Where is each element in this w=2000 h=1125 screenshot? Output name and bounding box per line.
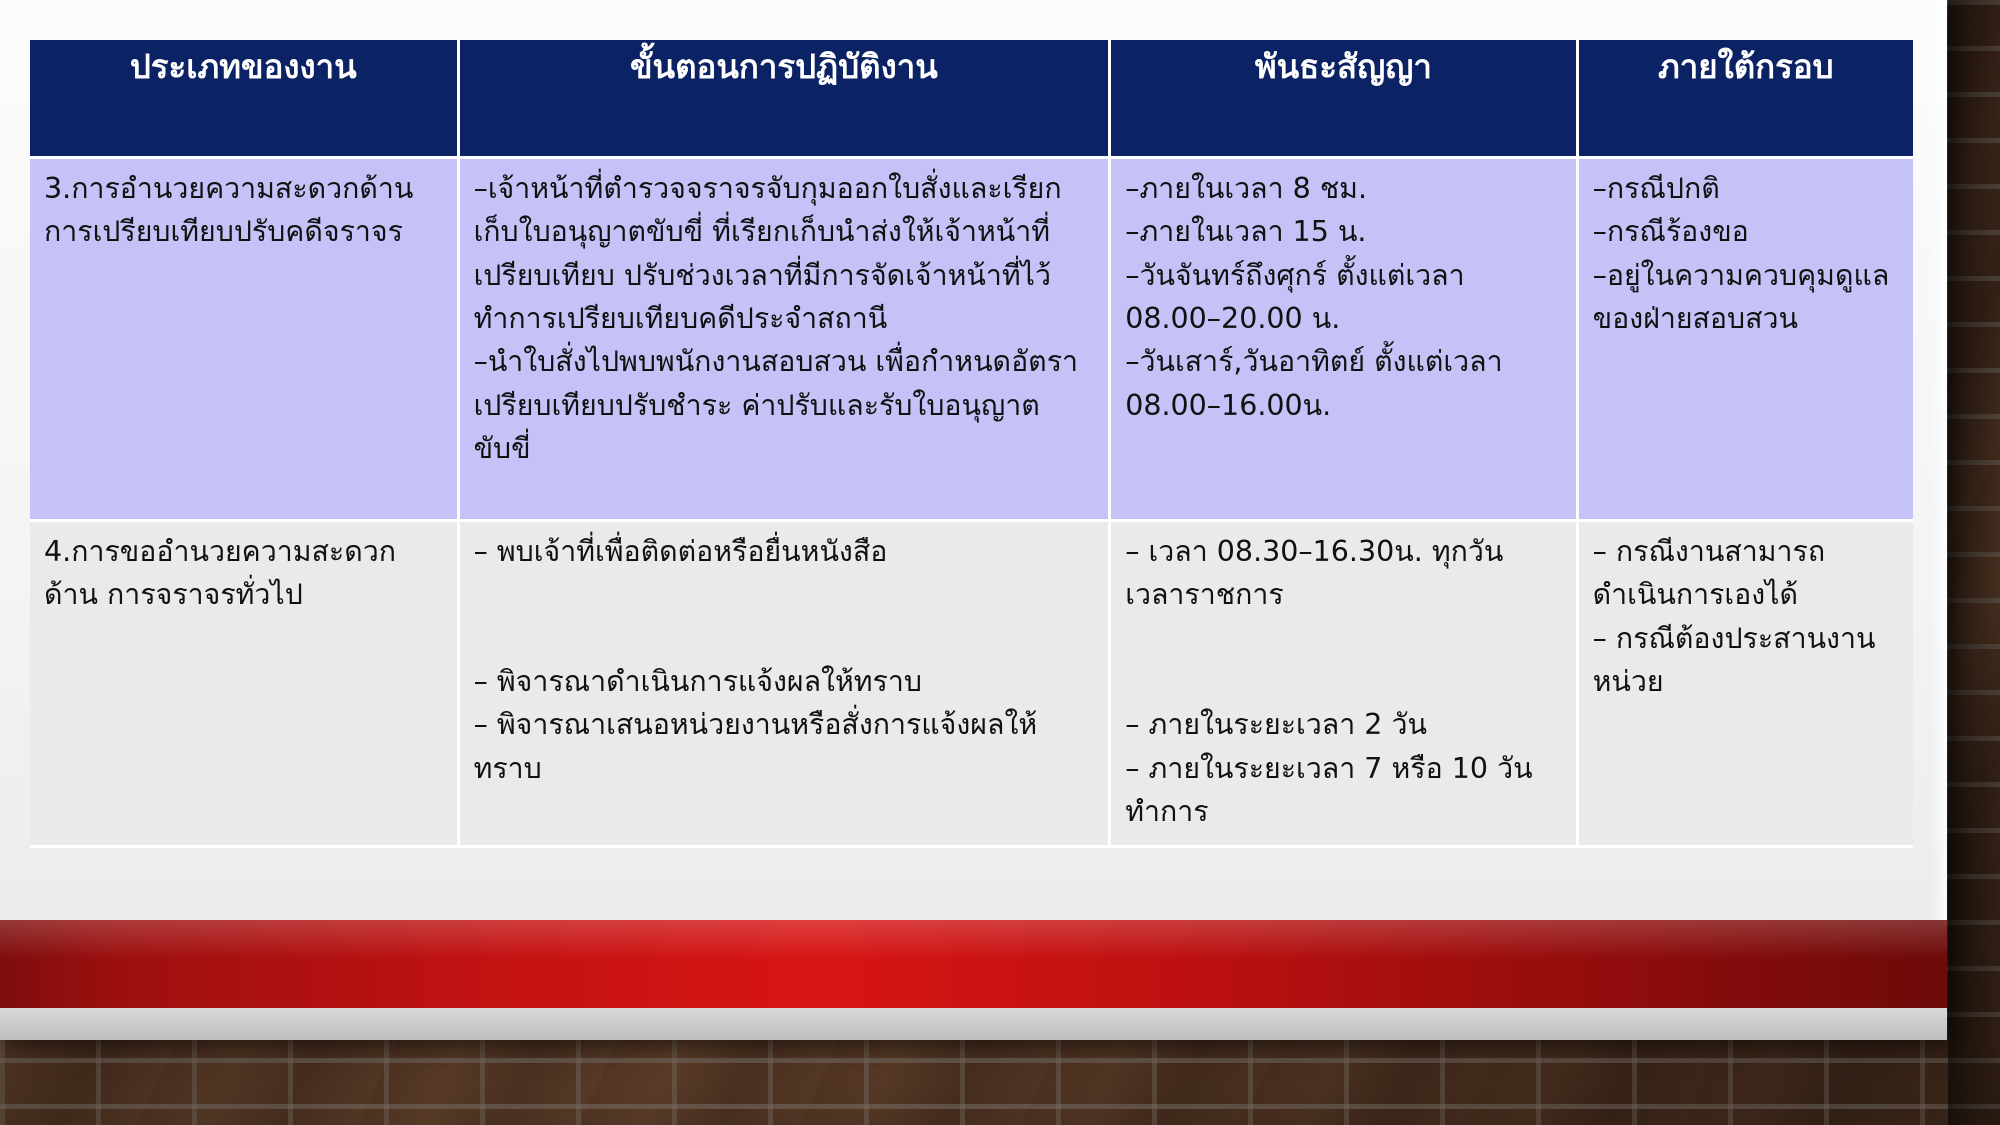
table-row: 4.การขออำนวยความสะดวกด้าน การจราจรทั่วไป…	[30, 522, 1913, 848]
service-table-container: ประเภทของงาน ขั้นตอนการปฏิบัติงาน พันธะส…	[30, 40, 1913, 848]
cell-procedure: – พบเจ้าที่เพื่อติดต่อหรือยื่นหนังสือ – …	[460, 522, 1112, 848]
right-dark-gutter	[1948, 0, 2000, 1125]
bottom-gray-strip	[0, 1008, 1947, 1040]
table-header: ประเภทของงาน ขั้นตอนการปฏิบัติงาน พันธะส…	[30, 40, 1913, 159]
column-header-commitment: พันธะสัญญา	[1111, 40, 1578, 159]
table-body: 3.การอำนวยความสะดวกด้านการเปรียบเทียบปรั…	[30, 159, 1913, 848]
cell-commitment: – เวลา 08.30–16.30น. ทุกวันเวลาราชการ – …	[1111, 522, 1578, 848]
accent-band-sheen	[0, 920, 1947, 959]
cell-text-commitment: – เวลา 08.30–16.30น. ทุกวันเวลาราชการ – …	[1125, 530, 1561, 833]
cell-framework: – กรณีงานสามารถดำเนินการเองได้ – กรณีต้อ…	[1579, 522, 1913, 848]
column-header-work-type: ประเภทของงาน	[30, 40, 460, 159]
cell-work-type: 4.การขออำนวยความสะดวกด้าน การจราจรทั่วไป	[30, 522, 460, 848]
cell-text-work-type: 3.การอำนวยความสะดวกด้านการเปรียบเทียบปรั…	[44, 167, 443, 254]
service-table: ประเภทของงาน ขั้นตอนการปฏิบัติงาน พันธะส…	[30, 40, 1913, 848]
cell-text-framework: –กรณีปกติ –กรณีร้องขอ –อยู่ในความควบคุมด…	[1593, 167, 1899, 340]
table-header-row: ประเภทของงาน ขั้นตอนการปฏิบัติงาน พันธะส…	[30, 40, 1913, 159]
cell-text-commitment: –ภายในเวลา 8 ชม. –ภายในเวลา 15 น. –วันจั…	[1125, 167, 1561, 427]
table-row: 3.การอำนวยความสะดวกด้านการเปรียบเทียบปรั…	[30, 159, 1913, 522]
cell-procedure: –เจ้าหน้าที่ตำรวจจราจรจับกุมออกใบสั่งและ…	[460, 159, 1112, 522]
cell-framework: –กรณีปกติ –กรณีร้องขอ –อยู่ในความควบคุมด…	[1579, 159, 1913, 522]
column-header-procedure: ขั้นตอนการปฏิบัติงาน	[460, 40, 1112, 159]
cell-text-work-type: 4.การขออำนวยความสะดวกด้าน การจราจรทั่วไป	[44, 530, 443, 617]
cell-text-procedure: – พบเจ้าที่เพื่อติดต่อหรือยื่นหนังสือ – …	[474, 530, 1095, 790]
slide-canvas: ประเภทของงาน ขั้นตอนการปฏิบัติงาน พันธะส…	[0, 0, 2000, 1125]
cell-commitment: –ภายในเวลา 8 ชม. –ภายในเวลา 15 น. –วันจั…	[1111, 159, 1578, 522]
column-header-framework: ภายใต้กรอบ	[1579, 40, 1913, 159]
accent-band-red	[0, 920, 1947, 1008]
panel-right-edge	[1931, 0, 1947, 1040]
cell-text-framework: – กรณีงานสามารถดำเนินการเองได้ – กรณีต้อ…	[1593, 530, 1899, 703]
cell-text-procedure: –เจ้าหน้าที่ตำรวจจราจรจับกุมออกใบสั่งและ…	[474, 167, 1095, 470]
cell-work-type: 3.การอำนวยความสะดวกด้านการเปรียบเทียบปรั…	[30, 159, 460, 522]
